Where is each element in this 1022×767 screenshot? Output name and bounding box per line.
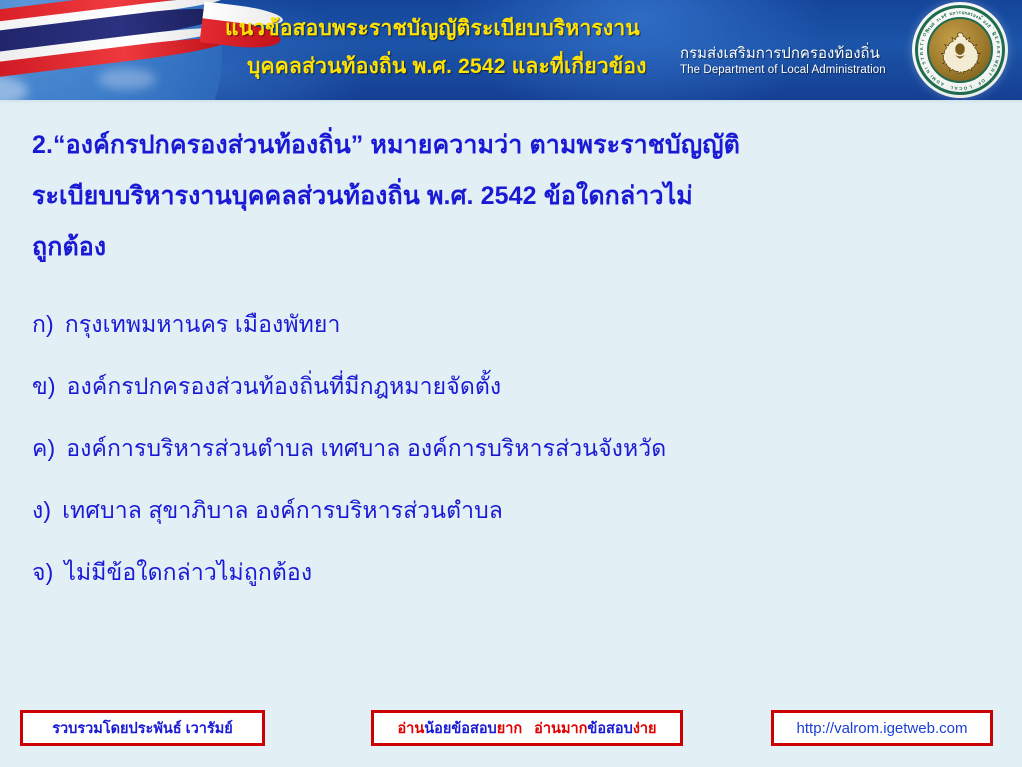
author-credit-box: รวบรวมโดยประพันธ์ เวารัมย์ (20, 710, 265, 746)
choice-text: องค์กรปกครองส่วนท้องถิ่นที่มีกฎหมายจัดตั… (67, 355, 502, 417)
motto-segment: อ่าน (534, 721, 561, 737)
choice-text: กรุงเทพมหานคร เมืองพัทยา (65, 293, 341, 355)
question-line-2: ระเบียบบริหารงานบุคคลส่วนท้องถิ่น พ.ศ. 2… (32, 171, 996, 222)
choice-text: ไม่มีข้อใดกล่าวไม่ถูกต้อง (64, 541, 312, 603)
motto-segment: น้อย (424, 721, 451, 737)
choice-text: องค์การบริหารส่วนตำบล เทศบาล องค์การบริห… (66, 417, 666, 479)
answer-choice-option[interactable]: ข) องค์กรปกครองส่วนท้องถิ่นที่มีกฎหมายจั… (32, 355, 996, 417)
choice-key: ข) (32, 355, 56, 417)
seal-inner-disc (927, 17, 993, 83)
exam-question-slide: แนวข้อสอบพระราชบัญญัติระเบียบบริหารงาน บ… (0, 0, 1022, 767)
author-credit-text: รวบรวมโดยประพันธ์ เวารัมย์ (52, 717, 233, 740)
choice-key: ง) (32, 479, 51, 541)
answer-choice-list: ก) กรุงเทพมหานคร เมืองพัทยา ข) องค์กรปกค… (32, 293, 996, 603)
answer-choice-option[interactable]: ง) เทศบาล สุขาภิบาล องค์การบริหารส่วนตำบ… (32, 479, 996, 541)
choice-key: จ) (32, 541, 53, 603)
choice-key: ค) (32, 417, 55, 479)
question-line-1: 2.“องค์กรปกครองส่วนท้องถิ่น” หมายความว่า… (32, 120, 996, 171)
question-line-3: ถูกต้อง (32, 222, 996, 273)
website-url-box[interactable]: http://valrom.igetweb.com (771, 710, 993, 746)
motto-segment: อ่าน (397, 721, 424, 737)
answer-choice-option[interactable]: ก) กรุงเทพมหานคร เมืองพัทยา (32, 293, 996, 355)
department-name-thai: กรมส่งเสริมการปกครองท้องถิ่น (680, 44, 886, 63)
motto-segment: ข้อสอบ (451, 721, 496, 737)
answer-choice-option[interactable]: จ) ไม่มีข้อใดกล่าวไม่ถูกต้อง (32, 541, 996, 603)
banner-title-line-1: แนวข้อสอบพระราชบัญญัติระเบียบบริหารงาน (225, 10, 885, 48)
website-url-text: http://valrom.igetweb.com (797, 720, 968, 737)
motto-segment: ยาก (497, 721, 522, 737)
motto-text: อ่านน้อยข้อสอบยากอ่านมากข้อสอบง่าย (397, 717, 656, 740)
motto-box: อ่านน้อยข้อสอบยากอ่านมากข้อสอบง่าย (371, 710, 683, 746)
department-of-local-administration-seal-icon: กรมส่งเสริมการปกครองท้องถิ่น DEPARTMENT … (912, 2, 1008, 98)
motto-segment: ง่าย (633, 721, 657, 737)
department-name-block: กรมส่งเสริมการปกครองท้องถิ่น The Departm… (680, 44, 886, 78)
motto-segment: ข้อสอบ (587, 721, 632, 737)
department-name-english: The Department of Local Administration (680, 63, 886, 78)
question-text: 2.“องค์กรปกครองส่วนท้องถิ่น” หมายความว่า… (32, 120, 996, 273)
choice-text: เทศบาล สุขาภิบาล องค์การบริหารส่วนตำบล (62, 479, 503, 541)
choice-key: ก) (32, 293, 54, 355)
slide-header-banner: แนวข้อสอบพระราชบัญญัติระเบียบบริหารงาน บ… (0, 0, 1022, 100)
motto-segment: มาก (561, 721, 587, 737)
garuda-figure-icon (937, 28, 983, 74)
answer-choice-option[interactable]: ค) องค์การบริหารส่วนตำบล เทศบาล องค์การบ… (32, 417, 996, 479)
slide-body: 2.“องค์กรปกครองส่วนท้องถิ่น” หมายความว่า… (0, 104, 1022, 699)
